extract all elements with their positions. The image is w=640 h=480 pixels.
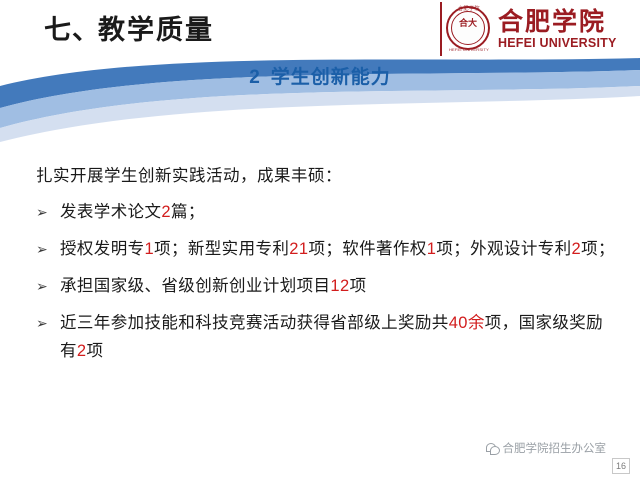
list-item: ➢授权发明专1项；新型实用专利21项；软件著作权1项；外观设计专利2项；: [36, 235, 616, 263]
highlighted-number: 2: [572, 240, 582, 258]
list-item: ➢承担国家级、省级创新创业计划项目12项: [36, 272, 616, 300]
text-run: 项；新型实用专利: [154, 240, 289, 258]
text-run: 项；软件著作权: [308, 240, 426, 258]
text-run: 项；: [581, 240, 615, 258]
bullet-marker-icon: ➢: [36, 198, 60, 226]
slide: 七、 教学质量 合肥学院 合大 HEFEI UNIVERSITY 合肥学院 HE…: [0, 0, 640, 480]
seal-center-text: 合大: [457, 19, 479, 37]
bullet-marker-icon: ➢: [36, 272, 60, 300]
slide-header: 七、 教学质量 合肥学院 合大 HEFEI UNIVERSITY 合肥学院 HE…: [0, 0, 640, 58]
watermark: 合肥学院招生办公室: [486, 440, 607, 456]
university-seal-icon: 合肥学院 合大 HEFEI UNIVERSITY: [444, 4, 494, 54]
logo-name-cn: 合肥学院: [498, 9, 617, 36]
text-run: 发表学术论文: [60, 203, 161, 221]
logo-wordmark: 合肥学院 HEFEI UNIVERSITY: [498, 9, 617, 50]
subtitle-text: 学生创新能力: [271, 67, 391, 88]
highlighted-number: 2: [161, 203, 171, 221]
list-item: ➢发表学术论文2篇；: [36, 198, 616, 226]
text-run: 承担国家级、省级创新创业计划项目: [60, 277, 330, 295]
lead-paragraph: 扎实开展学生创新实践活动，成果丰硕：: [36, 162, 616, 186]
text-run: 项: [350, 277, 367, 295]
text-run: 项: [86, 342, 103, 360]
seal-top-text: 合肥学院: [444, 5, 494, 12]
slide-content: 扎实开展学生创新实践活动，成果丰硕： ➢发表学术论文2篇；➢授权发明专1项；新型…: [36, 162, 616, 374]
list-item-text: 发表学术论文2篇；: [60, 198, 616, 226]
text-run: 篇；: [171, 203, 205, 221]
wechat-icon: [486, 443, 499, 454]
highlighted-number: 21: [289, 240, 308, 258]
page-title: 教学质量: [98, 8, 214, 47]
bullet-marker-icon: ➢: [36, 309, 60, 337]
page-number: 16: [612, 458, 630, 474]
list-item-text: 授权发明专1项；新型实用专利21项；软件著作权1项；外观设计专利2项；: [60, 235, 616, 263]
university-logo: 合肥学院 合大 HEFEI UNIVERSITY 合肥学院 HEFEI UNIV…: [440, 2, 634, 56]
watermark-text: 合肥学院招生办公室: [503, 440, 607, 456]
list-item: ➢近三年参加技能和科技竞赛活动获得省部级上奖励共40余项，国家级奖励有2项: [36, 309, 616, 365]
subtitle-number: 2: [249, 67, 261, 88]
seal-bottom-text: HEFEI UNIVERSITY: [444, 47, 494, 52]
highlighted-number: 1: [145, 240, 155, 258]
highlighted-number: 1: [427, 240, 437, 258]
text-run: 项；外观设计专利: [436, 240, 571, 258]
highlighted-number: 40余: [449, 314, 485, 332]
section-number: 七、: [44, 8, 100, 47]
text-run: 授权发明专: [60, 240, 145, 258]
list-item-text: 近三年参加技能和科技竞赛活动获得省部级上奖励共40余项，国家级奖励有2项: [60, 309, 616, 365]
logo-name-en: HEFEI UNIVERSITY: [498, 36, 617, 50]
subtitle: 2学生创新能力: [0, 62, 640, 89]
highlighted-number: 12: [330, 277, 349, 295]
text-run: 近三年参加技能和科技竞赛活动获得省部级上奖励共: [60, 314, 449, 332]
list-item-text: 承担国家级、省级创新创业计划项目12项: [60, 272, 616, 300]
bullet-list: ➢发表学术论文2篇；➢授权发明专1项；新型实用专利21项；软件著作权1项；外观设…: [36, 198, 616, 365]
bullet-marker-icon: ➢: [36, 235, 60, 263]
